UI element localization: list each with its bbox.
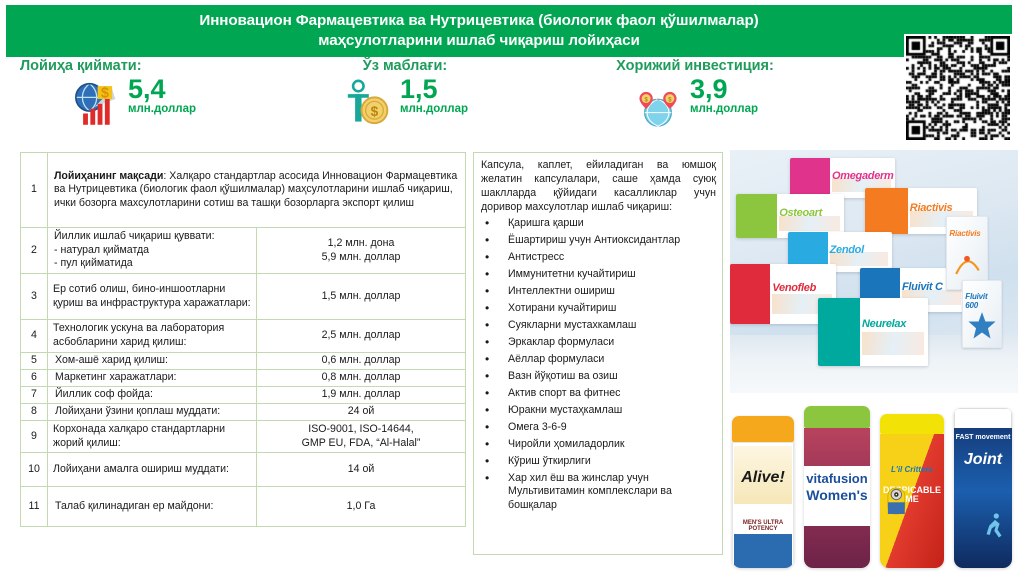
stat-label: Лойиҳа қиймати:: [8, 58, 258, 74]
stat-unit: млн.доллар: [400, 103, 468, 115]
stat-project-cost: Лойиҳа қиймати: $ 5,4 млн.доллар: [8, 58, 258, 128]
bottle-sub-alive: MEN'S ULTRA POTENCY: [732, 520, 794, 533]
row-number: 4: [21, 320, 48, 353]
table-row: 10 Лойиҳани амалга ошириш муддати: 14 ой: [21, 453, 466, 487]
products-list: Қаришга қарши Ёшартириш учун Антиоксидан…: [481, 217, 718, 513]
bottle-brand-alive: Alive!: [732, 470, 794, 486]
row-value: 2,5 млн. доллар: [257, 320, 466, 353]
qr-code-image: [906, 36, 1010, 140]
row-value-line-3: 5,9 млн. доллар: [261, 251, 461, 265]
table-row: 1 Лойиҳанинг мақсади: Халқаро стандартла…: [21, 153, 466, 228]
bottle-joint-movement: FAST movement Joint: [954, 408, 1012, 568]
row-value: ISO-9001, ISO-14644, GMP EU, FDA, “Al-Ha…: [257, 421, 466, 453]
sachet-label-riactivis: Riactivis: [949, 229, 980, 238]
list-item: Антистресс: [481, 251, 718, 265]
brand-label-omegaderm: Omegaderm: [832, 170, 894, 182]
row-number: 5: [21, 353, 48, 370]
bottle-brand-lil-critters: L'il Critters: [880, 466, 944, 474]
list-item: Ёшартириш учун Антиоксидантлар: [481, 234, 718, 248]
row-value: 24 ой: [257, 404, 466, 421]
row-number: 6: [21, 370, 48, 387]
title-line-1: Инновацион Фармацевтика ва Нутрицевтика …: [199, 12, 758, 29]
stat-value: 3,9: [690, 76, 758, 102]
bottle-sub-joint: FAST movement: [954, 434, 1012, 441]
sachet-artwork: [965, 307, 999, 341]
row-number: 2: [21, 228, 48, 274]
stat-unit: млн.доллар: [128, 103, 196, 115]
row-desc: Лойиҳани амалга ошириш муддати:: [48, 453, 257, 487]
row-number: 11: [21, 487, 48, 527]
row-desc-line-3: - пул қийматида: [54, 257, 252, 271]
bottle-brand-vitafusion: vitafusion: [804, 472, 870, 485]
row-desc: Маркетинг харажатлари:: [48, 370, 257, 387]
row-desc: Лойиҳани ўзини қоплаш муддати:: [48, 404, 257, 421]
table-row: 6 Маркетинг харажатлари: 0,8 млн. доллар: [21, 370, 466, 387]
svg-text:$: $: [371, 104, 379, 119]
title-line-2: маҳсулотларини ишлаб чиқариш лойиҳаси: [199, 31, 758, 51]
bottle-brand-joint: Joint: [954, 452, 1012, 468]
list-item: Эркаклар формуласи: [481, 336, 718, 350]
page-title: Инновацион Фармацевтика ва Нутрицевтика …: [199, 11, 758, 51]
brand-label-riactivis: Riactivis: [910, 202, 953, 214]
globe-pins-transfer-icon: $ $: [632, 78, 684, 128]
box-side: [736, 194, 777, 238]
stat-value: 5,4: [128, 76, 196, 102]
table-row: 11 Талаб қилинадиган ер майдони: 1,0 Га: [21, 487, 466, 527]
box-side: [865, 188, 908, 234]
row-value-line-2: 1,2 млн. дона: [261, 237, 461, 251]
list-item: Омега 3-6-9: [481, 421, 718, 435]
row-value: 0,6 млн. доллар: [257, 353, 466, 370]
brand-label-osteoart: Osteoart: [779, 207, 822, 219]
list-item: Қаришга қарши: [481, 217, 718, 231]
globe-money-chart-icon: $: [70, 78, 122, 128]
row-number: 3: [21, 274, 48, 320]
stat-own-funds: Ўз маблағи: $ 1,5 млн.доллар: [290, 58, 520, 128]
sachet-fluivit: Fluivit 600: [962, 280, 1002, 348]
brand-label-fluivit: Fluivit C: [902, 281, 943, 293]
table-row: 5 Хом-ашё харид қилиш: 0,6 млн. доллар: [21, 353, 466, 370]
row-value-line-1: ISO-9001, ISO-14644,: [261, 423, 461, 437]
person-coin-icon: $: [342, 78, 394, 128]
stat-value: 1,5: [400, 76, 468, 102]
list-item: Вазн йўқотиш ва озиш: [481, 370, 718, 384]
box-side: [790, 158, 830, 198]
row-desc: Корхонада халқаро стандартларни жорий қи…: [48, 421, 257, 453]
brand-label-zendol: Zendol: [830, 244, 864, 256]
row-desc-line-1: Йиллик ишлаб чиқариш қуввати:: [54, 230, 252, 244]
row-desc: Талаб қилинадиган ер майдони:: [48, 487, 257, 527]
stat-label: Ўз маблағи:: [290, 58, 520, 74]
stats-row: Лойиҳа қиймати: $ 5,4 млн.доллар: [0, 58, 900, 146]
bottle-cap: [732, 416, 794, 442]
qr-code[interactable]: [904, 34, 1012, 142]
row-desc: Йиллик ишлаб чиқариш қуввати: - натурал …: [48, 228, 257, 274]
product-box-neurelax: Neurelax: [818, 298, 928, 366]
row-number: 9: [21, 421, 48, 453]
row-number: 10: [21, 453, 48, 487]
bottle-cap: [954, 408, 1012, 430]
products-intro: Капсула, каплет, ейиладиган ва юмшоқ жел…: [481, 158, 718, 214]
stat-foreign-investment: Хорижий инвестиция: $ $ 3,9 млн.доллар: [545, 58, 845, 128]
list-item: Кўриш ўткирлиги: [481, 455, 718, 469]
list-item: Интеллектни ошириш: [481, 285, 718, 299]
row-desc-line-2: - натурал қийматда: [54, 244, 252, 258]
list-item: Чиройли ҳомиладорлик: [481, 438, 718, 452]
brand-label-venofleb: Venofleb: [772, 282, 816, 294]
list-item: Хар хил ёш ва жинслар учун Мультивитамин…: [481, 472, 718, 513]
runner-silhouette-icon: [982, 506, 1008, 552]
row-goal-label: Лойиҳанинг мақсади: [54, 170, 163, 182]
row-value: 0,8 млн. доллар: [257, 370, 466, 387]
row-number: 8: [21, 404, 48, 421]
stat-label: Хорижий инвестиция:: [545, 58, 845, 74]
list-item: Аёллар формуласи: [481, 353, 718, 367]
table-row: 9 Корхонада халқаро стандартларни жорий …: [21, 421, 466, 453]
list-item: Актив спорт ва фитнес: [481, 387, 718, 401]
table-row: 3 Ер сотиб олиш, бино-иншоотларни қуриш …: [21, 274, 466, 320]
list-item: Иммунитетни кучайтириш: [481, 268, 718, 282]
list-item: Суякларни мустахкамлаш: [481, 319, 718, 333]
bottle-vitafusion: vitafusion Women's: [804, 406, 870, 568]
row-desc: Йиллик соф фойда:: [48, 387, 257, 404]
bottle-label-bottom: [734, 534, 792, 568]
bottle-lil-critters: L'il Critters DESPICABLE ME: [880, 414, 944, 568]
row-value: 1,2 млн. дона 5,9 млн. доллар: [257, 228, 466, 274]
svg-text:$: $: [101, 85, 109, 101]
row-number: 1: [21, 153, 48, 228]
row-value: 14 ой: [257, 453, 466, 487]
sachet-riactivis: Riactivis: [946, 216, 988, 290]
row-value-line-2: GMP EU, FDA, “Al-Halal”: [261, 437, 461, 451]
box-side: [730, 264, 770, 324]
brand-label-neurelax: Neurelax: [862, 318, 906, 330]
stat-unit: млн.доллар: [690, 103, 758, 115]
list-item: Хотирани кучайтириш: [481, 302, 718, 316]
box-artwork: [862, 332, 924, 355]
bottle-sub-vitafusion: Women's: [804, 488, 870, 502]
row-value: 1,0 Га: [257, 487, 466, 527]
vitamin-bottles-photo: Alive! MEN'S ULTRA POTENCY vitafusion Wo…: [730, 400, 1018, 572]
products-panel: Капсула, каплет, ейиладиган ва юмшоқ жел…: [473, 152, 723, 555]
table-row: 2 Йиллик ишлаб чиқариш қуввати: - натура…: [21, 228, 466, 274]
sachet-artwork: [949, 247, 985, 283]
project-spec-table: 1 Лойиҳанинг мақсади: Халқаро стандартла…: [20, 152, 466, 527]
slide-root: Инновацион Фармацевтика ва Нутрицевтика …: [0, 0, 1024, 576]
row-value: 1,5 млн. доллар: [257, 274, 466, 320]
table-row: 7 Йиллик соф фойда: 1,9 млн. доллар: [21, 387, 466, 404]
bottle-cap: [804, 406, 870, 428]
header-banner: Инновацион Фармацевтика ва Нутрицевтика …: [6, 5, 1012, 57]
table-row: 8 Лойиҳани ўзини қоплаш муддати: 24 ой: [21, 404, 466, 421]
box-side: [818, 298, 860, 366]
row-desc: Ер сотиб олиш, бино-иншоотларни қуриш ва…: [48, 274, 257, 320]
row-number: 7: [21, 387, 48, 404]
row-value: 1,9 млн. доллар: [257, 387, 466, 404]
table-row: 4 Технологик ускуна ва лаборатория асбоб…: [21, 320, 466, 353]
product-boxes-photo: Omegaderm Riactivis Osteoart Zendol: [730, 150, 1018, 393]
bottle-cap: [880, 414, 944, 434]
row-goal: Лойиҳанинг мақсади: Халқаро стандартлар …: [48, 153, 466, 228]
minion-character-icon: [884, 476, 910, 526]
row-desc: Технологик ускуна ва лаборатория асбобла…: [48, 320, 257, 353]
bottle-alive: Alive! MEN'S ULTRA POTENCY: [732, 416, 794, 568]
row-desc: Хом-ашё харид қилиш:: [48, 353, 257, 370]
list-item: Юракни мустаҳкамлаш: [481, 404, 718, 418]
